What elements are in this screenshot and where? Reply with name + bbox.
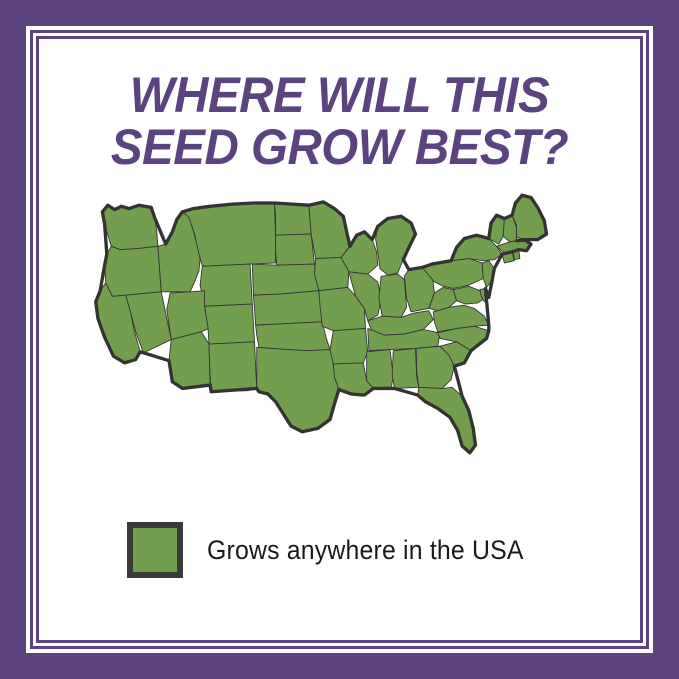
state-utah — [166, 291, 208, 340]
seed-grow-infographic: WHERE WILL THIS SEED GROW BEST? — [0, 0, 679, 679]
united-states-map — [39, 189, 640, 519]
page-title-line-1: WHERE WILL THIS — [67, 69, 611, 121]
state-alabama — [392, 348, 419, 388]
state-oregon — [104, 246, 161, 296]
legend-swatch-grows-anywhere — [127, 522, 183, 578]
us-map-svg — [70, 193, 610, 515]
state-washington — [102, 205, 158, 249]
state-minnesota — [308, 202, 349, 259]
state-mississippi — [366, 350, 393, 389]
state-wyoming — [200, 264, 252, 306]
map-states-group — [95, 195, 546, 453]
state-south-dakota — [275, 234, 314, 265]
state-colorado — [204, 304, 254, 344]
state-arizona — [169, 332, 210, 389]
state-kansas — [253, 291, 322, 325]
state-indiana — [378, 274, 406, 317]
state-oklahoma — [255, 322, 329, 351]
state-nebraska — [252, 264, 319, 295]
state-new-mexico — [208, 342, 256, 392]
state-florida — [417, 387, 475, 453]
page-title-line-2: SEED GROW BEST? — [67, 121, 611, 173]
state-texas — [256, 347, 338, 431]
legend-label-grows-anywhere: Grows anywhere in the USA — [207, 535, 524, 565]
state-north-dakota — [274, 203, 311, 235]
infographic-canvas: WHERE WILL THIS SEED GROW BEST? — [39, 39, 640, 640]
state-arkansas — [330, 328, 368, 364]
map-legend: Grows anywhere in the USA — [39, 522, 640, 578]
page-title: WHERE WILL THIS SEED GROW BEST? — [39, 69, 640, 173]
state-maryland — [453, 286, 484, 304]
